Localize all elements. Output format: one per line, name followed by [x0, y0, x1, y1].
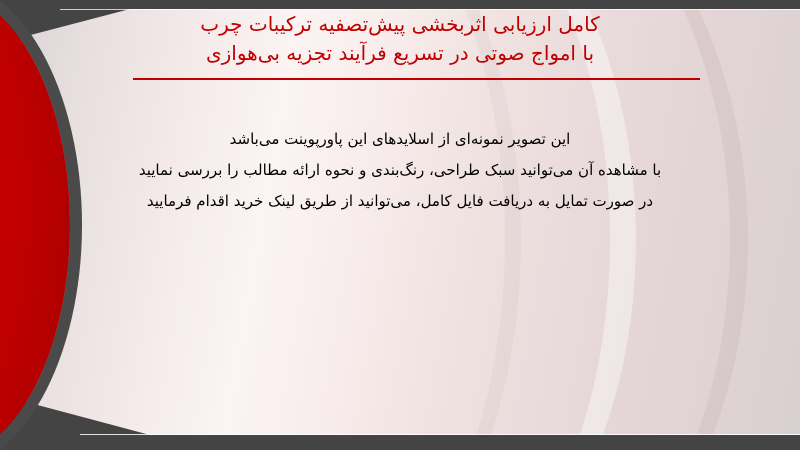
- background-swoosh: [430, 9, 800, 435]
- slide-background-panel: [0, 9, 800, 435]
- frame-band-top: [0, 0, 800, 9]
- slide-body: این تصویر نمونه‌ای از اسلایدهای این پاور…: [0, 124, 800, 217]
- slide-body-line-2: با مشاهده آن می‌توانید سبک طراحی، رنگ‌بن…: [0, 155, 800, 186]
- background-swoosh: [170, 9, 748, 435]
- slide-title-line-2: با امواج صوتی در تسریع فرآیند تجزیه بی‌ه…: [0, 39, 800, 68]
- background-swoosh: [640, 9, 800, 435]
- background-swoosh: [25, 9, 521, 435]
- title-underline-rule: [133, 78, 700, 80]
- slide-title-line-1: کامل ارزیابی اثربخشی پیش‌تصفیه ترکیبات چ…: [0, 10, 800, 39]
- frame-band-bottom: [0, 435, 800, 450]
- background-swoosh: [265, 9, 800, 435]
- slide-title: کامل ارزیابی اثربخشی پیش‌تصفیه ترکیبات چ…: [0, 10, 800, 68]
- background-swoosh: [540, 9, 800, 435]
- background-swoosh: [90, 9, 636, 435]
- slide-body-line-1: این تصویر نمونه‌ای از اسلایدهای این پاور…: [0, 124, 800, 155]
- background-swoosh: [355, 9, 800, 435]
- presentation-slide: کامل ارزیابی اثربخشی پیش‌تصفیه ترکیبات چ…: [0, 0, 800, 450]
- slide-body-line-3: در صورت تمایل به دریافت فایل کامل، می‌تو…: [0, 186, 800, 217]
